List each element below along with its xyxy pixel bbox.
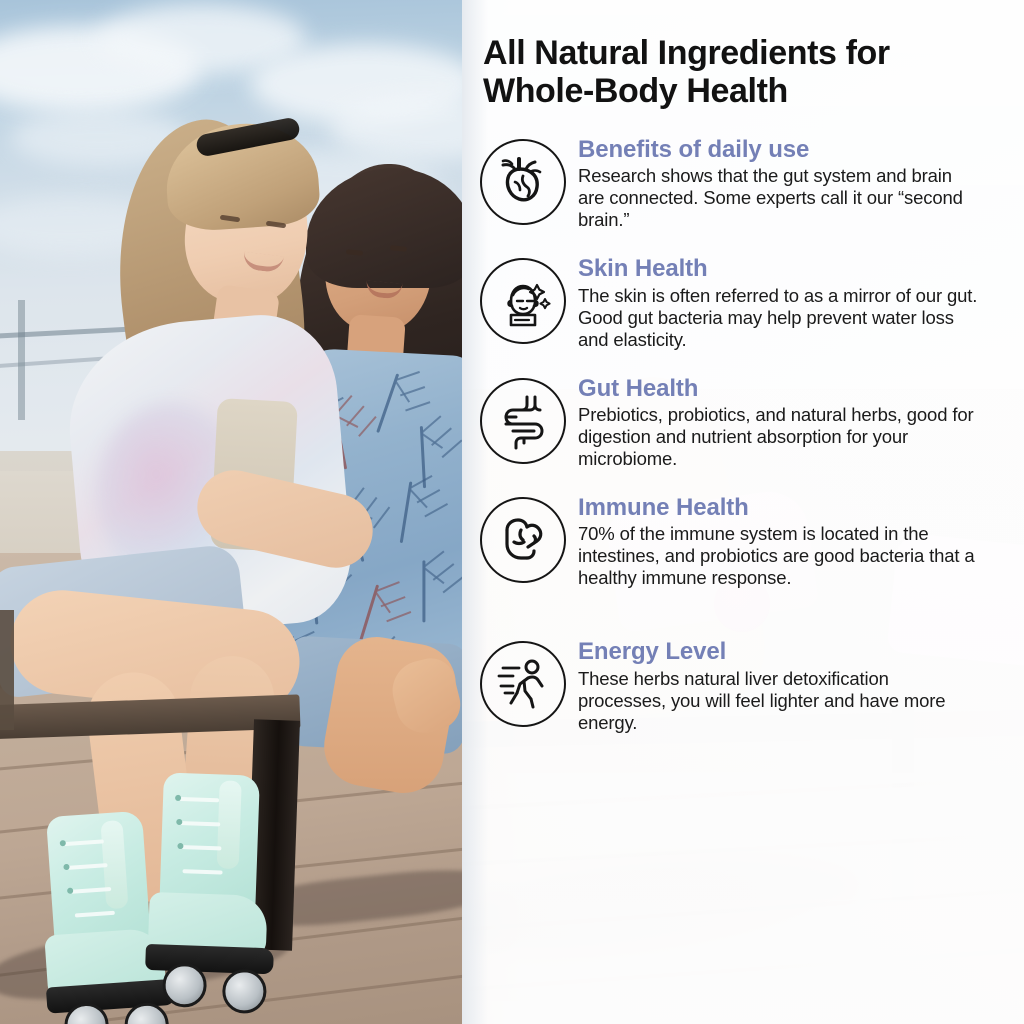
face-sparkle-icon	[480, 258, 566, 344]
page-title: All Natural Ingredients for Whole-Body H…	[483, 34, 1008, 111]
benefit-description: Research shows that the gut system and b…	[578, 165, 980, 231]
benefit-item-energy-level: Energy Level These herbs natural liver d…	[480, 637, 1008, 733]
benefit-title: Gut Health	[578, 376, 980, 402]
benefit-item-immune-health: Immune Health 70% of the immune system i…	[480, 493, 1008, 589]
benefit-title: Skin Health	[578, 256, 980, 282]
benefit-item-gut-health: Gut Health Prebiotics, probiotics, and n…	[480, 374, 1008, 470]
benefits-panel: All Natural Ingredients for Whole-Body H…	[462, 0, 1024, 1024]
running-person-icon	[480, 641, 566, 727]
benefit-title: Energy Level	[578, 639, 980, 665]
benefit-description: 70% of the immune system is located in t…	[578, 523, 980, 589]
benefit-title: Benefits of daily use	[578, 137, 980, 163]
lifestyle-photo	[0, 0, 462, 1024]
pier-post	[18, 300, 25, 420]
benefit-description: The skin is often referred to as a mirro…	[578, 285, 980, 351]
benefit-item-daily-use: Benefits of daily use Research shows tha…	[480, 135, 1008, 231]
benefit-title: Immune Health	[578, 495, 980, 521]
benefit-description: These herbs natural liver detoxification…	[578, 668, 980, 734]
intestine-icon	[480, 378, 566, 464]
anatomical-heart-icon	[480, 139, 566, 225]
flexed-bicep-icon	[480, 497, 566, 583]
bench-rail	[0, 610, 14, 730]
infographic-poster: All Natural Ingredients for Whole-Body H…	[0, 0, 1024, 1024]
benefit-item-skin-health: Skin Health The skin is often referred t…	[480, 254, 1008, 350]
benefits-list: Benefits of daily use Research shows tha…	[480, 135, 1008, 734]
benefit-description: Prebiotics, probiotics, and natural herb…	[578, 404, 980, 470]
